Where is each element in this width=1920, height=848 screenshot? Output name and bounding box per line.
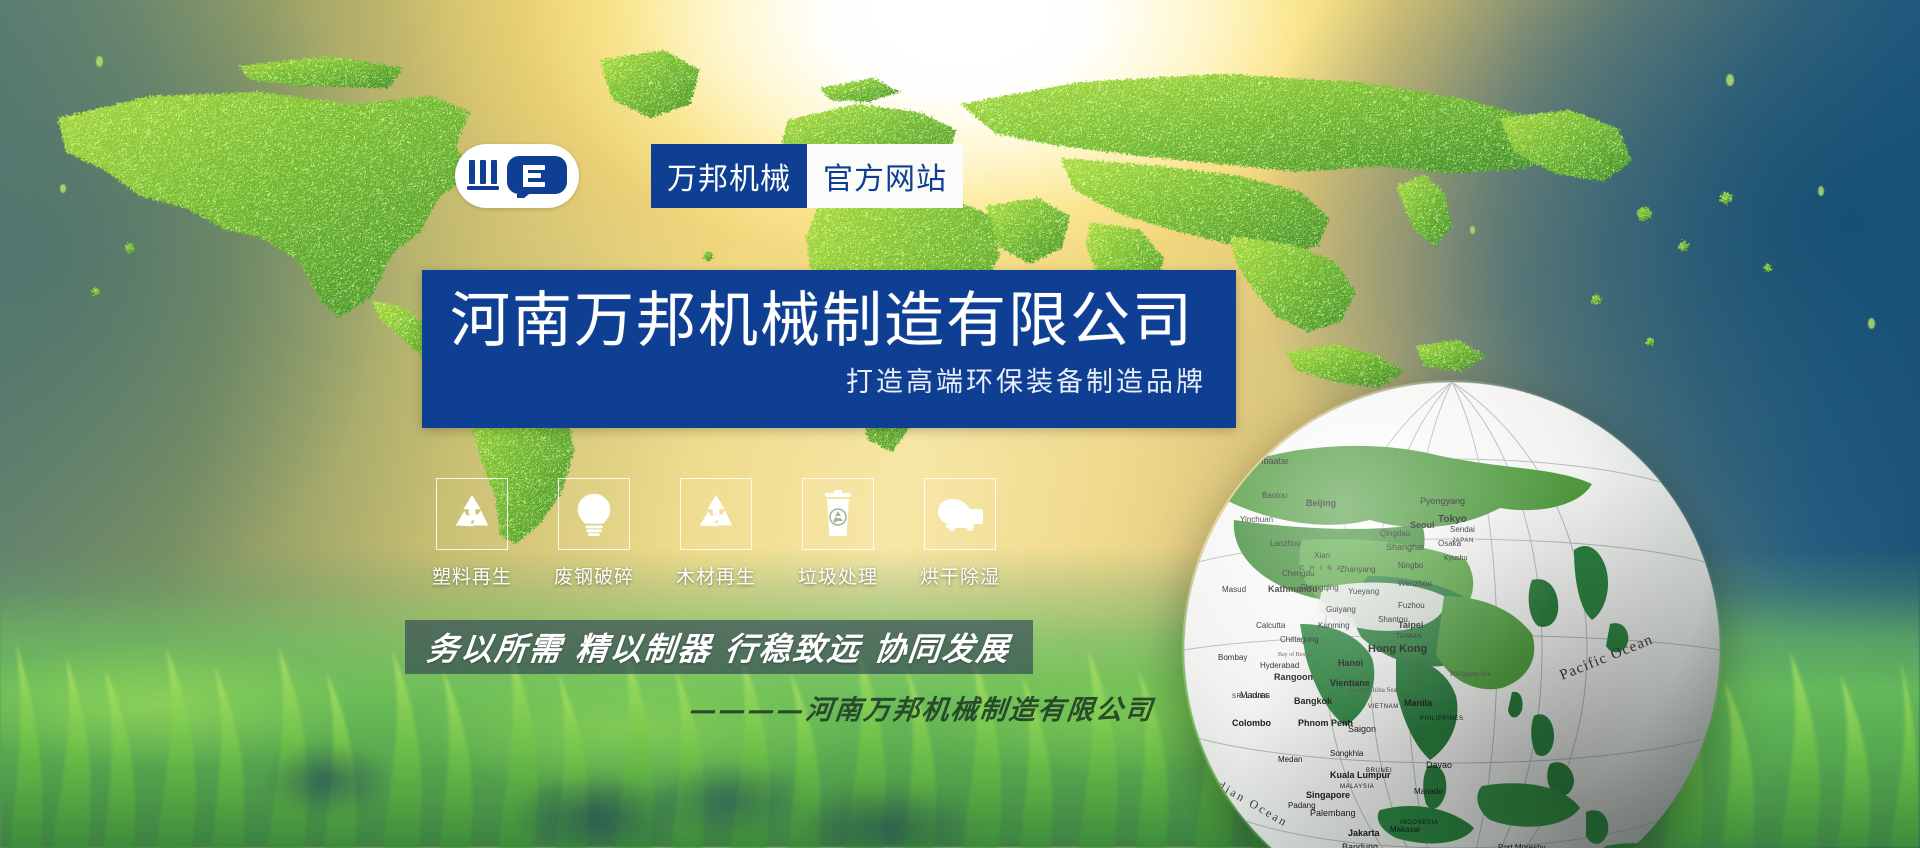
svg-text:Bombay: Bombay xyxy=(1218,653,1247,662)
svg-text:Port Moresby: Port Moresby xyxy=(1498,843,1546,848)
hero-banner: Ulaanbaatar Beijing Baotou Yinchuan Lanz… xyxy=(0,0,1920,848)
svg-text:Manado: Manado xyxy=(1414,787,1443,796)
leaf-fleck xyxy=(60,184,66,193)
trash-bin-icon xyxy=(802,478,874,550)
svg-text:Ningbo: Ningbo xyxy=(1398,561,1424,570)
dryer-machine-icon xyxy=(924,478,996,550)
feature-item-waste-treatment[interactable]: 垃圾处理 xyxy=(786,478,890,589)
hero-title-card: 河南万邦机械制造有限公司 打造高端环保装备制造品牌 xyxy=(422,270,1236,428)
svg-text:Rangoon: Rangoon xyxy=(1274,672,1313,682)
feature-label: 废钢破碎 xyxy=(554,562,634,589)
logo-company-name[interactable]: 万邦机械 xyxy=(651,144,807,208)
svg-text:Manila: Manila xyxy=(1404,698,1433,708)
slogan-banner: 务以所需 精以制器 行稳致远 协同发展 xyxy=(405,620,1033,674)
svg-text:C H I N A: C H I N A xyxy=(1300,566,1343,572)
svg-text:JAPAN: JAPAN xyxy=(1452,538,1474,544)
web-bubble-logo-icon[interactable] xyxy=(455,144,579,208)
svg-text:Taipei: Taipei xyxy=(1398,620,1423,630)
leaf-fleck xyxy=(1818,186,1824,196)
feature-item-wood-recycling[interactable]: 木材再生 xyxy=(664,478,768,589)
svg-text:Bay of Bengal: Bay of Bengal xyxy=(1278,651,1313,658)
feature-item-plastic-recycling[interactable]: 塑料再生 xyxy=(420,478,524,589)
svg-text:Songkhla: Songkhla xyxy=(1330,749,1364,758)
feature-item-scrap-steel-crushing[interactable]: 废钢破碎 xyxy=(542,478,646,589)
svg-text:Philippine Sea: Philippine Sea xyxy=(1450,670,1492,678)
svg-text:Kathmandu: Kathmandu xyxy=(1268,584,1318,594)
svg-text:Tokyo: Tokyo xyxy=(1438,514,1467,525)
svg-text:Padang: Padang xyxy=(1288,801,1316,810)
lightbulb-icon xyxy=(558,478,630,550)
svg-text:Bangkok: Bangkok xyxy=(1294,696,1333,706)
svg-text:Shanghai: Shanghai xyxy=(1386,542,1424,552)
svg-text:Wenzhou: Wenzhou xyxy=(1398,579,1432,588)
svg-text:Sendai: Sendai xyxy=(1450,525,1475,534)
svg-text:Colombo: Colombo xyxy=(1232,718,1271,728)
svg-text:Qingdao: Qingdao xyxy=(1380,529,1411,538)
svg-text:VIETNAM: VIETNAM xyxy=(1368,704,1399,710)
recycle-icon xyxy=(680,478,752,550)
slogan-text: 务以所需 精以制器 行稳致远 协同发展 xyxy=(425,624,1013,670)
recycle-icon xyxy=(436,478,508,550)
feature-label: 垃圾处理 xyxy=(798,562,878,589)
logo-wordmark: 万邦机械 官方网站 xyxy=(651,144,963,208)
page-title: 河南万邦机械制造有限公司 xyxy=(450,288,1206,354)
svg-text:Makasar: Makasar xyxy=(1390,825,1421,834)
leaf-fleck xyxy=(1726,74,1734,86)
svg-text:Hong Kong: Hong Kong xyxy=(1368,643,1427,655)
svg-text:Yueyang: Yueyang xyxy=(1348,587,1379,596)
svg-text:Chittagong: Chittagong xyxy=(1280,635,1319,644)
feature-label: 塑料再生 xyxy=(432,562,512,589)
svg-text:Bandung: Bandung xyxy=(1342,842,1378,848)
svg-text:TAIWAN: TAIWAN xyxy=(1396,634,1422,640)
svg-text:Hyderabad: Hyderabad xyxy=(1260,661,1299,670)
leaf-fleck xyxy=(1470,226,1475,234)
logo-official-site[interactable]: 官方网站 xyxy=(807,144,963,208)
slogan-attribution: ————河南万邦机械制造有限公司 xyxy=(688,688,1156,727)
svg-text:South China Sea: South China Sea xyxy=(1350,686,1398,694)
svg-text:Phnom Penh: Phnom Penh xyxy=(1298,718,1353,728)
hero-tagline: 打造高端环保装备制造品牌 xyxy=(450,364,1206,402)
feature-label: 烘干除湿 xyxy=(920,562,1000,589)
svg-text:Davao: Davao xyxy=(1426,760,1452,770)
svg-text:Masud: Masud xyxy=(1222,585,1246,594)
leaf-fleck xyxy=(1868,318,1875,329)
svg-text:Hanoi: Hanoi xyxy=(1338,658,1363,668)
svg-text:Sea of Japan: Sea of Japan xyxy=(1430,497,1460,504)
svg-text:PHILIPPINES: PHILIPPINES xyxy=(1420,716,1464,722)
svg-text:Saigon: Saigon xyxy=(1348,724,1376,734)
svg-text:Kyushu: Kyushu xyxy=(1444,555,1467,562)
svg-text:Baotou: Baotou xyxy=(1262,491,1287,500)
svg-text:Palembang: Palembang xyxy=(1310,808,1356,818)
svg-text:Calcutta: Calcutta xyxy=(1256,621,1286,630)
svg-text:Guiyang: Guiyang xyxy=(1326,605,1356,614)
feature-label: 木材再生 xyxy=(676,562,756,589)
feature-item-drying-dehumidify[interactable]: 烘干除湿 xyxy=(908,478,1012,589)
svg-text:BRUNEI: BRUNEI xyxy=(1366,768,1392,774)
svg-text:Singapore: Singapore xyxy=(1306,790,1350,800)
svg-text:Zhanyang: Zhanyang xyxy=(1340,565,1376,574)
leaf-fleck xyxy=(96,56,103,67)
site-logo[interactable]: 万邦机械 官方网站 xyxy=(455,144,963,208)
svg-text:Seoul: Seoul xyxy=(1410,520,1435,530)
feature-list: 塑料再生 废钢破碎 xyxy=(420,478,1012,589)
leaf-fleck xyxy=(146,128,151,137)
svg-text:Yinchuan: Yinchuan xyxy=(1240,515,1273,524)
svg-text:Lanzhou: Lanzhou xyxy=(1270,539,1301,548)
svg-text:Xian: Xian xyxy=(1314,551,1330,560)
svg-text:Kunming: Kunming xyxy=(1318,621,1350,630)
svg-text:Jakarta: Jakarta xyxy=(1348,828,1381,838)
svg-text:SRI LANKA: SRI LANKA xyxy=(1232,694,1269,700)
svg-text:Beijing: Beijing xyxy=(1306,498,1336,508)
svg-text:Fuzhou: Fuzhou xyxy=(1398,601,1425,610)
svg-text:Medan: Medan xyxy=(1278,755,1302,764)
